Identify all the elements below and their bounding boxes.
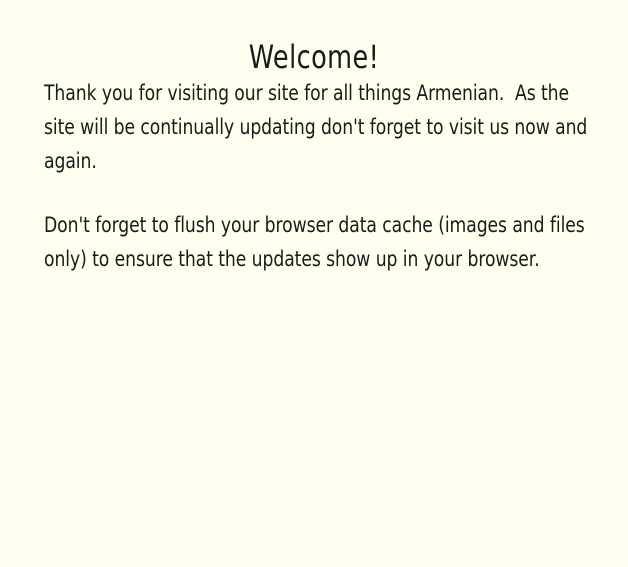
paragraph-intro: Thank you for visiting our site for all … [44,76,602,178]
welcome-page: Welcome! Thank you for visiting our site… [0,0,628,567]
content-body: Thank you for visiting our site for all … [44,76,628,276]
page-title: Welcome! [63,37,565,77]
paragraph-cache-notice: Don't forget to flush your browser data … [44,208,602,276]
